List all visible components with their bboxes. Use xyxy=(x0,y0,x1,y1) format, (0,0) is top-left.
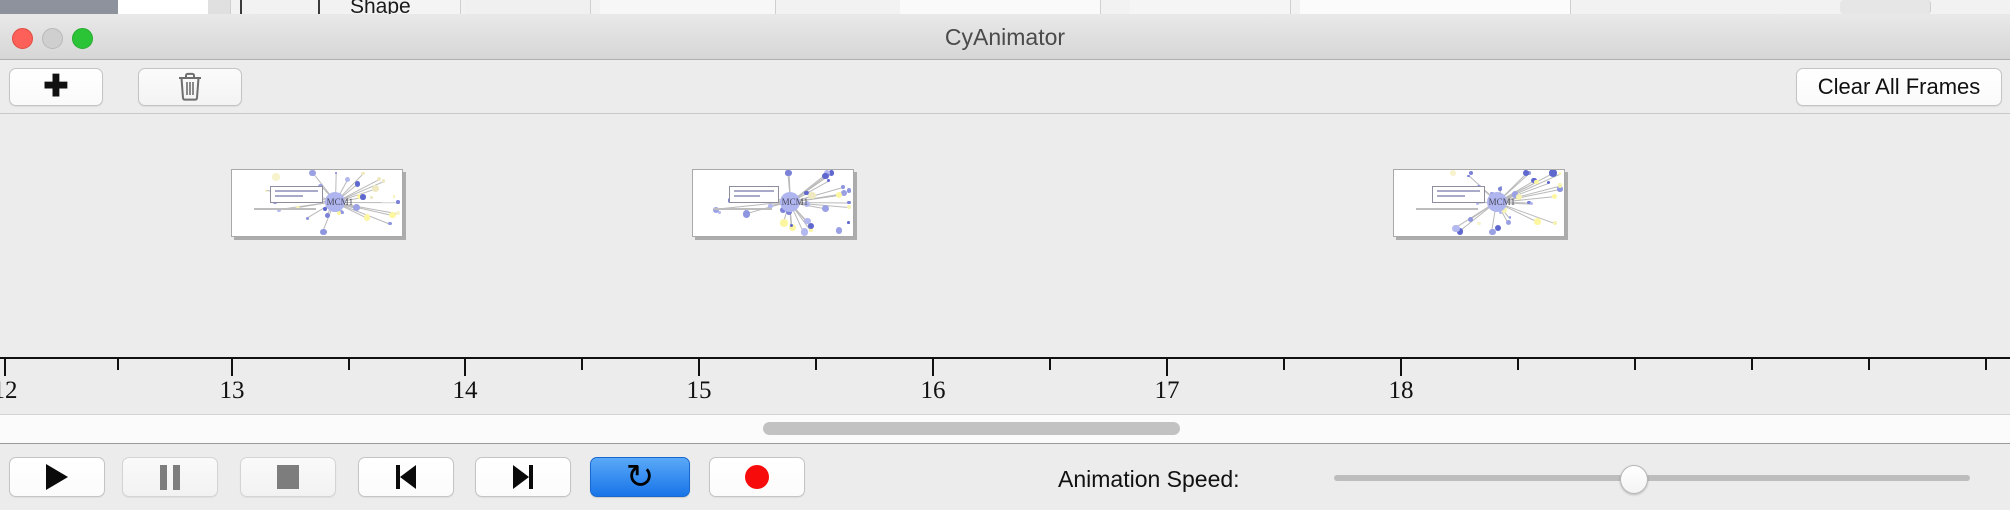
graph-caption-line xyxy=(254,208,316,210)
graph-node xyxy=(361,172,365,176)
timeline-panel[interactable]: MCM1MCM1MCM1 12131415161718 Seconds xyxy=(0,114,2010,415)
record-button[interactable] xyxy=(709,457,805,497)
timeline-frame[interactable]: MCM1 xyxy=(692,169,854,237)
skip-to-start-button[interactable] xyxy=(358,457,454,497)
graph-node xyxy=(836,192,843,199)
graph-node xyxy=(822,173,829,180)
play-button[interactable] xyxy=(9,457,105,497)
trash-icon xyxy=(177,72,203,102)
skip-back-icon xyxy=(396,465,416,489)
graph-node xyxy=(1509,216,1511,218)
toolbar: ✚ Clear All Frames xyxy=(0,60,2010,114)
axis-tick-label: 17 xyxy=(1155,377,1180,405)
axis-tick xyxy=(348,359,350,370)
axis-tick xyxy=(1634,359,1636,370)
plus-icon: ✚ xyxy=(43,72,68,102)
graph-node xyxy=(1534,180,1538,184)
skip-forward-icon xyxy=(513,465,533,489)
graph-node xyxy=(377,177,381,181)
frame-thumbnail: MCM1 xyxy=(693,170,853,236)
axis-tick xyxy=(1049,359,1051,370)
graph-node xyxy=(1506,220,1511,225)
graph-node xyxy=(822,205,829,212)
graph-node xyxy=(847,188,851,192)
graph-hub-label: MCM1 xyxy=(782,197,809,207)
axis-tick-label: 18 xyxy=(1389,377,1414,405)
axis-tick xyxy=(1985,359,1987,370)
graph-node xyxy=(272,173,279,180)
graph-node xyxy=(309,170,315,176)
graph-node xyxy=(335,172,337,174)
timeline-scrollbar[interactable] xyxy=(0,415,2010,444)
transport-bar: ↻ Animation Speed: xyxy=(0,444,2010,510)
graph-node xyxy=(382,179,385,182)
background-segment xyxy=(1840,0,1931,14)
graph-node xyxy=(1468,217,1473,222)
axis-tick xyxy=(1751,359,1753,370)
graph-node xyxy=(786,170,792,176)
graph-annotation-box xyxy=(1432,186,1486,202)
background-segment xyxy=(208,0,231,14)
axis-tick xyxy=(117,359,119,370)
graph-node xyxy=(1553,221,1557,225)
frame-thumbnail: MCM1 xyxy=(1394,170,1564,236)
axis-tick-label: 15 xyxy=(687,377,712,405)
graph-node xyxy=(393,195,396,198)
background-tick xyxy=(318,0,320,14)
graph-node xyxy=(718,211,721,214)
background-segment xyxy=(118,0,209,14)
graph-node xyxy=(388,222,391,225)
frame-thumbnail: MCM1 xyxy=(232,170,402,236)
axis-tick xyxy=(698,359,700,376)
timeline-scrollbar-thumb[interactable] xyxy=(763,422,1180,435)
graph-node xyxy=(808,192,815,199)
graph-node xyxy=(1523,170,1529,176)
background-toolbar-dark xyxy=(0,0,118,14)
axis-tick xyxy=(581,359,583,370)
timeline-axis: 12131415161718 xyxy=(0,357,2010,414)
play-icon xyxy=(46,464,68,490)
graph-node xyxy=(841,185,845,189)
graph-hub-label: MCM1 xyxy=(1489,197,1516,207)
graph-node xyxy=(1558,183,1562,187)
graph-node xyxy=(370,196,373,199)
graph-node xyxy=(1534,218,1540,224)
window-title-bar: CyAnimator xyxy=(0,14,2010,60)
graph-node xyxy=(1559,172,1562,175)
clear-all-frames-label: Clear All Frames xyxy=(1818,74,1981,100)
axis-tick xyxy=(1166,359,1168,376)
axis-tick-label: 12 xyxy=(0,377,18,405)
graph-node xyxy=(801,228,808,235)
skip-to-end-button[interactable] xyxy=(475,457,571,497)
graph-node xyxy=(364,214,371,221)
axis-tick-label: 14 xyxy=(453,377,478,405)
axis-tick xyxy=(464,359,466,376)
stop-icon xyxy=(277,465,299,489)
animation-speed-slider[interactable] xyxy=(1334,475,1970,481)
background-segment xyxy=(600,0,776,14)
stop-button[interactable] xyxy=(240,457,336,497)
loop-icon: ↻ xyxy=(626,462,655,492)
clear-all-frames-button[interactable]: Clear All Frames xyxy=(1796,68,2002,106)
background-window-strip: Shape xyxy=(0,0,2010,15)
graph-node xyxy=(341,211,344,214)
axis-tick xyxy=(815,359,817,370)
background-shape-label: Shape xyxy=(350,0,411,15)
graph-node xyxy=(1477,222,1480,225)
animation-speed-label: Animation Speed: xyxy=(1058,466,1240,493)
graph-node xyxy=(743,210,750,217)
background-tick xyxy=(240,0,242,14)
graph-node xyxy=(804,218,810,224)
axis-tick xyxy=(4,359,6,376)
pause-icon xyxy=(160,465,180,490)
background-segment xyxy=(1300,0,1571,14)
graph-node xyxy=(829,170,834,175)
graph-node xyxy=(1549,169,1556,176)
graph-node xyxy=(836,227,843,234)
graph-node xyxy=(1530,202,1533,205)
graph-node xyxy=(1547,181,1550,184)
graph-annotation-box xyxy=(729,186,780,202)
graph-hub-label: MCM1 xyxy=(327,197,354,207)
timeline-frame[interactable]: MCM1 xyxy=(1393,169,1565,237)
axis-line xyxy=(0,357,2010,359)
background-segment xyxy=(1130,0,1291,14)
graph-node xyxy=(396,211,400,215)
graph-node xyxy=(320,229,327,236)
graph-node xyxy=(847,201,851,205)
axis-tick xyxy=(231,359,233,376)
axis-tick xyxy=(1868,359,1870,370)
window-title: CyAnimator xyxy=(0,24,2010,51)
graph-node xyxy=(396,200,400,204)
graph-node xyxy=(1476,202,1479,205)
axis-tick xyxy=(1517,359,1519,370)
graph-node xyxy=(847,221,850,224)
background-segment xyxy=(900,0,1101,14)
graph-annotation-box xyxy=(270,186,324,202)
graph-node xyxy=(355,181,361,187)
graph-node xyxy=(780,219,787,226)
axis-tick xyxy=(1400,359,1402,376)
cyanimator-window: Shape CyAnimator ✚ Clear All Frames xyxy=(0,0,2010,510)
background-segment xyxy=(465,0,591,14)
axis-tick xyxy=(1283,359,1285,370)
pause-button[interactable] xyxy=(122,457,218,497)
graph-caption-line xyxy=(714,208,772,210)
graph-node xyxy=(1552,194,1557,199)
graph-node xyxy=(360,194,365,199)
graph-node xyxy=(1516,194,1522,200)
add-frame-button[interactable]: ✚ xyxy=(9,68,103,106)
graph-node xyxy=(372,185,379,192)
graph-node xyxy=(847,205,851,209)
axis-tick-label: 13 xyxy=(220,377,245,405)
graph-node xyxy=(1495,225,1501,231)
graph-node xyxy=(1498,187,1502,191)
graph-node xyxy=(808,223,814,229)
timeline-frame[interactable]: MCM1 xyxy=(231,169,403,237)
graph-node xyxy=(827,179,830,182)
animation-speed-slider-thumb[interactable] xyxy=(1620,465,1648,494)
graph-node xyxy=(345,177,350,182)
graph-node xyxy=(325,213,330,218)
graph-caption-line xyxy=(1416,208,1478,210)
axis-tick-label: 16 xyxy=(921,377,946,405)
graph-node xyxy=(389,212,396,219)
axis-tick xyxy=(932,359,934,376)
graph-node xyxy=(1452,225,1459,232)
delete-frame-button[interactable] xyxy=(138,68,242,106)
graph-node xyxy=(306,217,309,220)
loop-button[interactable]: ↻ xyxy=(590,457,690,497)
record-icon xyxy=(745,465,769,489)
graph-node xyxy=(1450,170,1456,176)
